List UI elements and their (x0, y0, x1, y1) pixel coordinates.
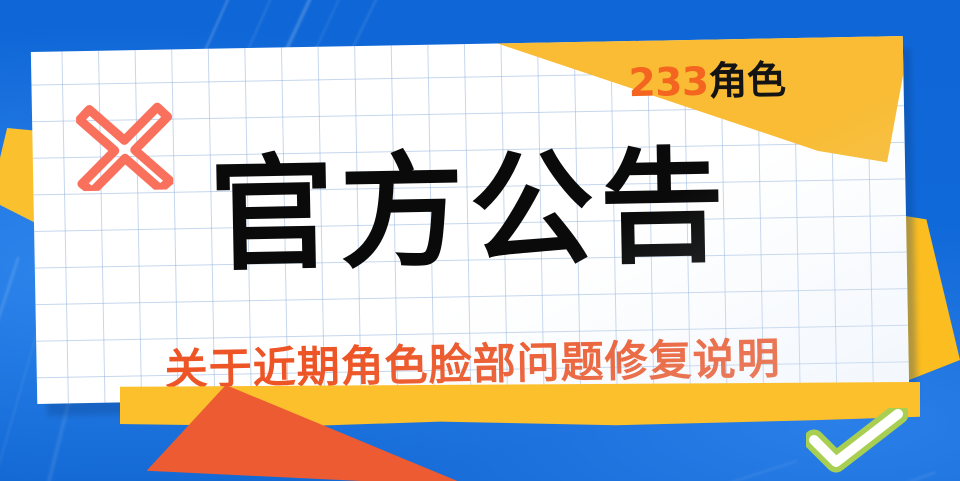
grid-paper-card: 233角色 官方公告 关于近期角色脸部问题修复说明 (31, 36, 909, 404)
brand-suffix: 角色 (708, 58, 786, 104)
light-streak (606, 460, 797, 481)
page-title: 官方公告 (33, 142, 907, 282)
brand-number: 233 (628, 60, 709, 106)
announcement-poster: 233角色 官方公告 关于近期角色脸部问题修复说明 (0, 0, 960, 481)
brand-logo: 233角色 (628, 61, 786, 103)
check-icon (806, 408, 908, 476)
